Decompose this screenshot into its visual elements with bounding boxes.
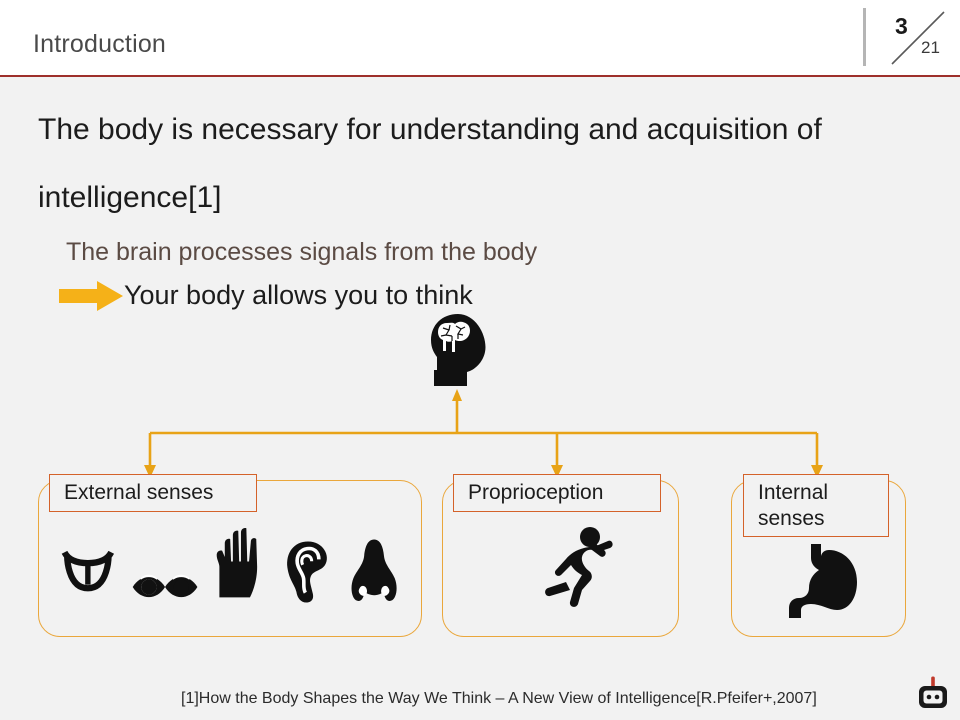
running-person-icon [540, 526, 616, 608]
slide-canvas: Introduction 3 21 The body is necessary … [0, 0, 960, 720]
proprioception-icon-row [540, 528, 620, 608]
header-divider-rule [0, 75, 960, 77]
proprioception-label: Proprioception [453, 474, 661, 512]
external-senses-icon-row [60, 528, 400, 608]
internal-senses-icon-row [785, 542, 865, 622]
internal-senses-label: Internal senses [743, 474, 889, 537]
external-senses-label: External senses [49, 474, 257, 512]
sub-statement-brain: The brain processes signals from the bod… [66, 238, 537, 267]
nose-icon [348, 534, 400, 608]
right-block-arrow-icon [59, 281, 123, 311]
page-title: Introduction [33, 30, 166, 59]
head-with-brain-icon [425, 312, 491, 388]
hand-icon [214, 523, 268, 608]
footnote-reference: [1]How the Body Shapes the Way We Think … [181, 690, 817, 708]
slide-heading: The body is necessary for understanding … [38, 96, 828, 232]
stomach-icon [785, 542, 859, 622]
eyes-icon [130, 566, 200, 608]
page-number-fraction: 3 21 [884, 6, 954, 68]
tongue-icon [60, 538, 116, 608]
robot-face-logo-icon [916, 676, 950, 710]
vertical-divider-icon [863, 8, 866, 66]
sub-statement-conclusion: Your body allows you to think [124, 280, 473, 311]
ear-icon [282, 536, 334, 608]
page-total-number: 21 [921, 38, 940, 58]
